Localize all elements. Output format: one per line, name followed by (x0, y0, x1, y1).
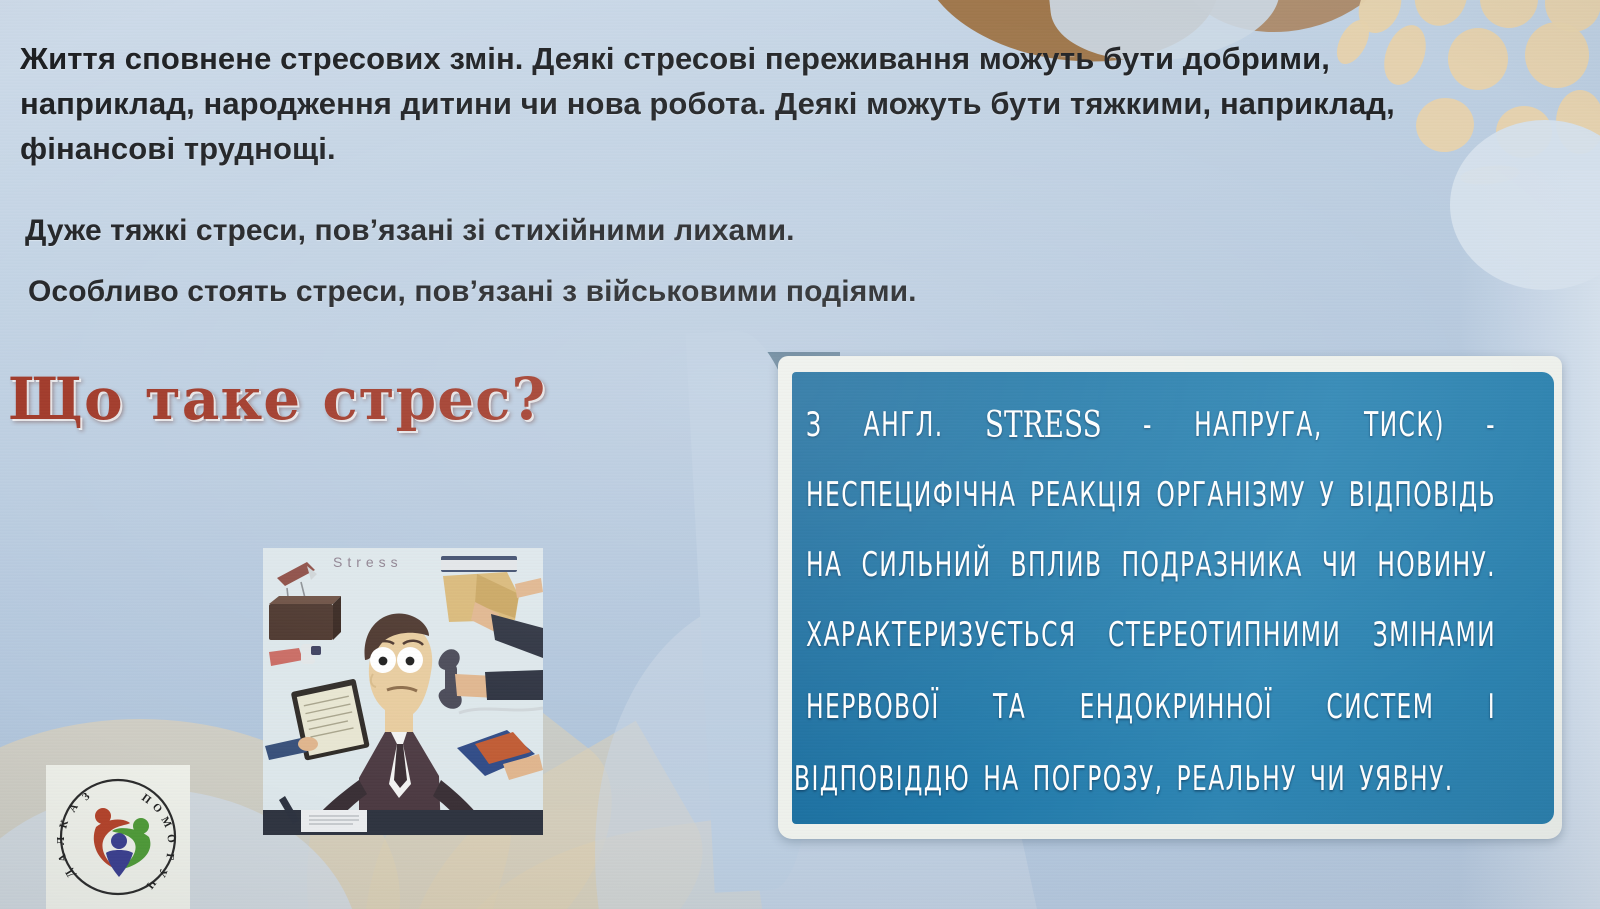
panel-word: СТЕРЕОТИПНИМИ (1108, 614, 1341, 654)
panel-word: НОВИНУ. (1377, 544, 1496, 584)
panel-line-5: НЕРВОВОЇ ТА ЕНДОКРИННОЇ СИСТЕМ І (806, 686, 1494, 726)
panel-word: НА (983, 758, 1019, 798)
panel-word: НА (806, 544, 842, 584)
panel-line-6: ВІДПОВІДДЮ НА ПОГРОЗУ, РЕАЛЬНУ ЧИ УЯВНУ. (794, 758, 1482, 798)
panel-word: РЕАКЦІЯ (1030, 474, 1143, 514)
page-title: Що таке стрес? (8, 365, 546, 433)
svg-text:Г: Г (163, 853, 176, 861)
paragraph-war-events: Особливо стоять стреси, пов’язані з війс… (28, 272, 917, 312)
panel-word: ЕНДОКРИННОЇ (1080, 686, 1273, 726)
panel-word: РЕАЛЬНУ (1177, 758, 1297, 798)
panel-word: ПОГРОЗУ, (1033, 758, 1164, 798)
panel-word: І (1488, 686, 1496, 726)
panel-word: ЗМІНАМИ (1373, 614, 1496, 654)
organization-logo: З А К Л А Д П О М О Г У Ч (46, 765, 190, 909)
panel-word: ЧИ (1310, 758, 1346, 798)
panel-line-1: З АНГЛ. STRESS - НАПРУГА, ТИСК) - (806, 404, 1494, 447)
panel-word: СИЛЬНИЙ (861, 544, 991, 584)
panel-word: СИСТЕМ (1326, 686, 1434, 726)
stressed-worker-icon (263, 548, 543, 835)
panel-word: НЕСПЕЦИФІЧНА (806, 474, 1016, 514)
panel-word: ВІДПОВІДЬ (1349, 474, 1496, 514)
panel-word: ТА (993, 686, 1026, 726)
panel-word: ХАРАКТЕРИЗУЄТЬСЯ (806, 614, 1077, 654)
panel-word: - (1143, 404, 1153, 447)
panel-word: З (806, 404, 822, 447)
panel-word: ОРГАНІЗМУ (1156, 474, 1305, 514)
presentation-slide: Життя сповнене стресових змін. Деякі стр… (0, 0, 1600, 909)
panel-word: ЧИ (1322, 544, 1358, 584)
panel-word: У (1319, 474, 1335, 514)
paragraph-natural-disasters: Дуже тяжкі стреси, пов’язані зі стихійни… (25, 211, 795, 251)
panel-word: ПОДРАЗНИКА (1122, 544, 1303, 584)
panel-word-stress: STRESS (985, 404, 1102, 447)
panel-word: ВІДПОВІДДЮ (794, 758, 970, 798)
panel-line-2: НЕСПЕЦИФІЧНА РЕАКЦІЯ ОРГАНІЗМУ У ВІДПОВІ… (806, 474, 1494, 514)
panel-word: АНГЛ. (864, 404, 944, 447)
panel-line-3: НА СИЛЬНИЙ ВПЛИВ ПОДРАЗНИКА ЧИ НОВИНУ. (806, 544, 1494, 584)
stress-illustration: Stress (263, 548, 543, 835)
panel-word: ТИСК) (1364, 404, 1445, 447)
illustration-label: Stress (333, 554, 403, 570)
panel-word: ВПЛИВ (1011, 544, 1103, 584)
panel-word: НАПРУГА, (1194, 404, 1323, 447)
panel-word: - (1486, 404, 1496, 447)
panel-word: УЯВНУ. (1359, 758, 1453, 798)
definition-panel: З АНГЛ. STRESS - НАПРУГА, ТИСК) - НЕСПЕЦ… (792, 372, 1554, 824)
svg-text:Л: Л (55, 836, 67, 845)
panel-line-4: ХАРАКТЕРИЗУЄТЬСЯ СТЕРЕОТИПНИМИ ЗМІНАМИ (806, 614, 1494, 654)
logo-icon: З А К Л А Д П О М О Г У Ч (46, 765, 190, 909)
panel-word: НЕРВОВОЇ (806, 686, 940, 726)
paragraph-intro: Життя сповнене стресових змін. Деякі стр… (20, 36, 1420, 171)
